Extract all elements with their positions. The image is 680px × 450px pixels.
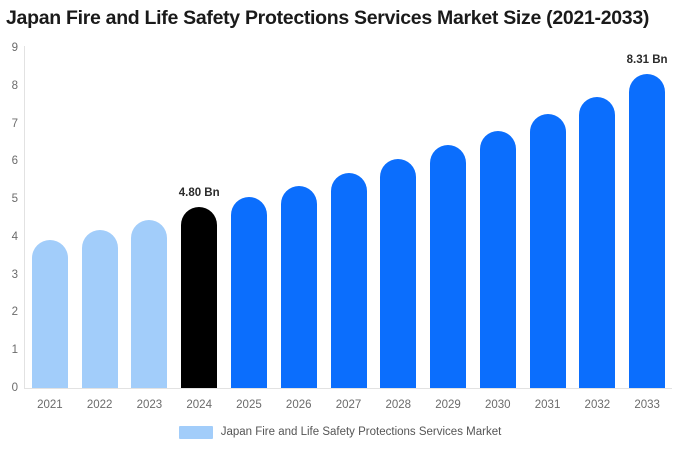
y-axis-tick-label: 6 xyxy=(0,155,18,167)
x-axis-tick-label: 2027 xyxy=(336,398,362,412)
y-axis-tick-label: 9 xyxy=(0,42,18,54)
y-axis-tick-label: 1 xyxy=(0,344,18,356)
x-axis-line xyxy=(24,388,672,389)
x-axis-tick-label: 2021 xyxy=(37,398,63,412)
legend-item[interactable]: Japan Fire and Life Safety Protections S… xyxy=(179,425,502,439)
x-axis-tick-label: 2028 xyxy=(385,398,411,412)
y-axis-tick-label: 8 xyxy=(0,80,18,92)
x-axis-tick-label: 2032 xyxy=(585,398,611,412)
x-axis-tick-label: 2022 xyxy=(87,398,113,412)
bar-2032[interactable] xyxy=(579,97,615,388)
y-axis-tick-label: 5 xyxy=(0,193,18,205)
legend-swatch-icon xyxy=(179,426,213,439)
bar-2022[interactable] xyxy=(82,230,118,388)
y-axis-tick-label: 0 xyxy=(0,382,18,394)
plot-area: 0123456789 20212022202320242025202620272… xyxy=(0,0,680,450)
bar-value-label-2033: 8.31 Bn xyxy=(627,54,668,67)
chart-legend: Japan Fire and Life Safety Protections S… xyxy=(0,425,680,439)
bar-2024[interactable] xyxy=(181,207,217,388)
x-axis-tick-label: 2031 xyxy=(535,398,561,412)
bar-2021[interactable] xyxy=(32,240,68,388)
legend-label: Japan Fire and Life Safety Protections S… xyxy=(221,425,502,439)
x-axis-tick-label: 2030 xyxy=(485,398,511,412)
bar-value-label-2024: 4.80 Bn xyxy=(179,187,220,200)
bar-2033[interactable] xyxy=(629,74,665,388)
x-axis-tick-label: 2033 xyxy=(634,398,660,412)
x-axis-tick-label: 2026 xyxy=(286,398,312,412)
y-axis-tick-label: 7 xyxy=(0,118,18,130)
y-axis-line xyxy=(24,46,25,389)
y-axis-tick-label: 2 xyxy=(0,306,18,318)
y-axis-tick-label: 3 xyxy=(0,269,18,281)
bar-2029[interactable] xyxy=(430,145,466,388)
bar-2026[interactable] xyxy=(281,186,317,388)
x-axis-tick-label: 2023 xyxy=(137,398,163,412)
bar-chart: Japan Fire and Life Safety Protections S… xyxy=(0,0,680,450)
x-axis-tick-label: 2029 xyxy=(435,398,461,412)
y-axis-tick-label: 4 xyxy=(0,231,18,243)
bar-2031[interactable] xyxy=(530,114,566,388)
x-axis-tick-label: 2025 xyxy=(236,398,262,412)
bar-2025[interactable] xyxy=(231,197,267,388)
bar-2028[interactable] xyxy=(380,159,416,388)
bar-2030[interactable] xyxy=(480,131,516,388)
x-axis-tick-label: 2024 xyxy=(186,398,212,412)
bar-2027[interactable] xyxy=(331,173,367,388)
bar-2023[interactable] xyxy=(131,220,167,388)
